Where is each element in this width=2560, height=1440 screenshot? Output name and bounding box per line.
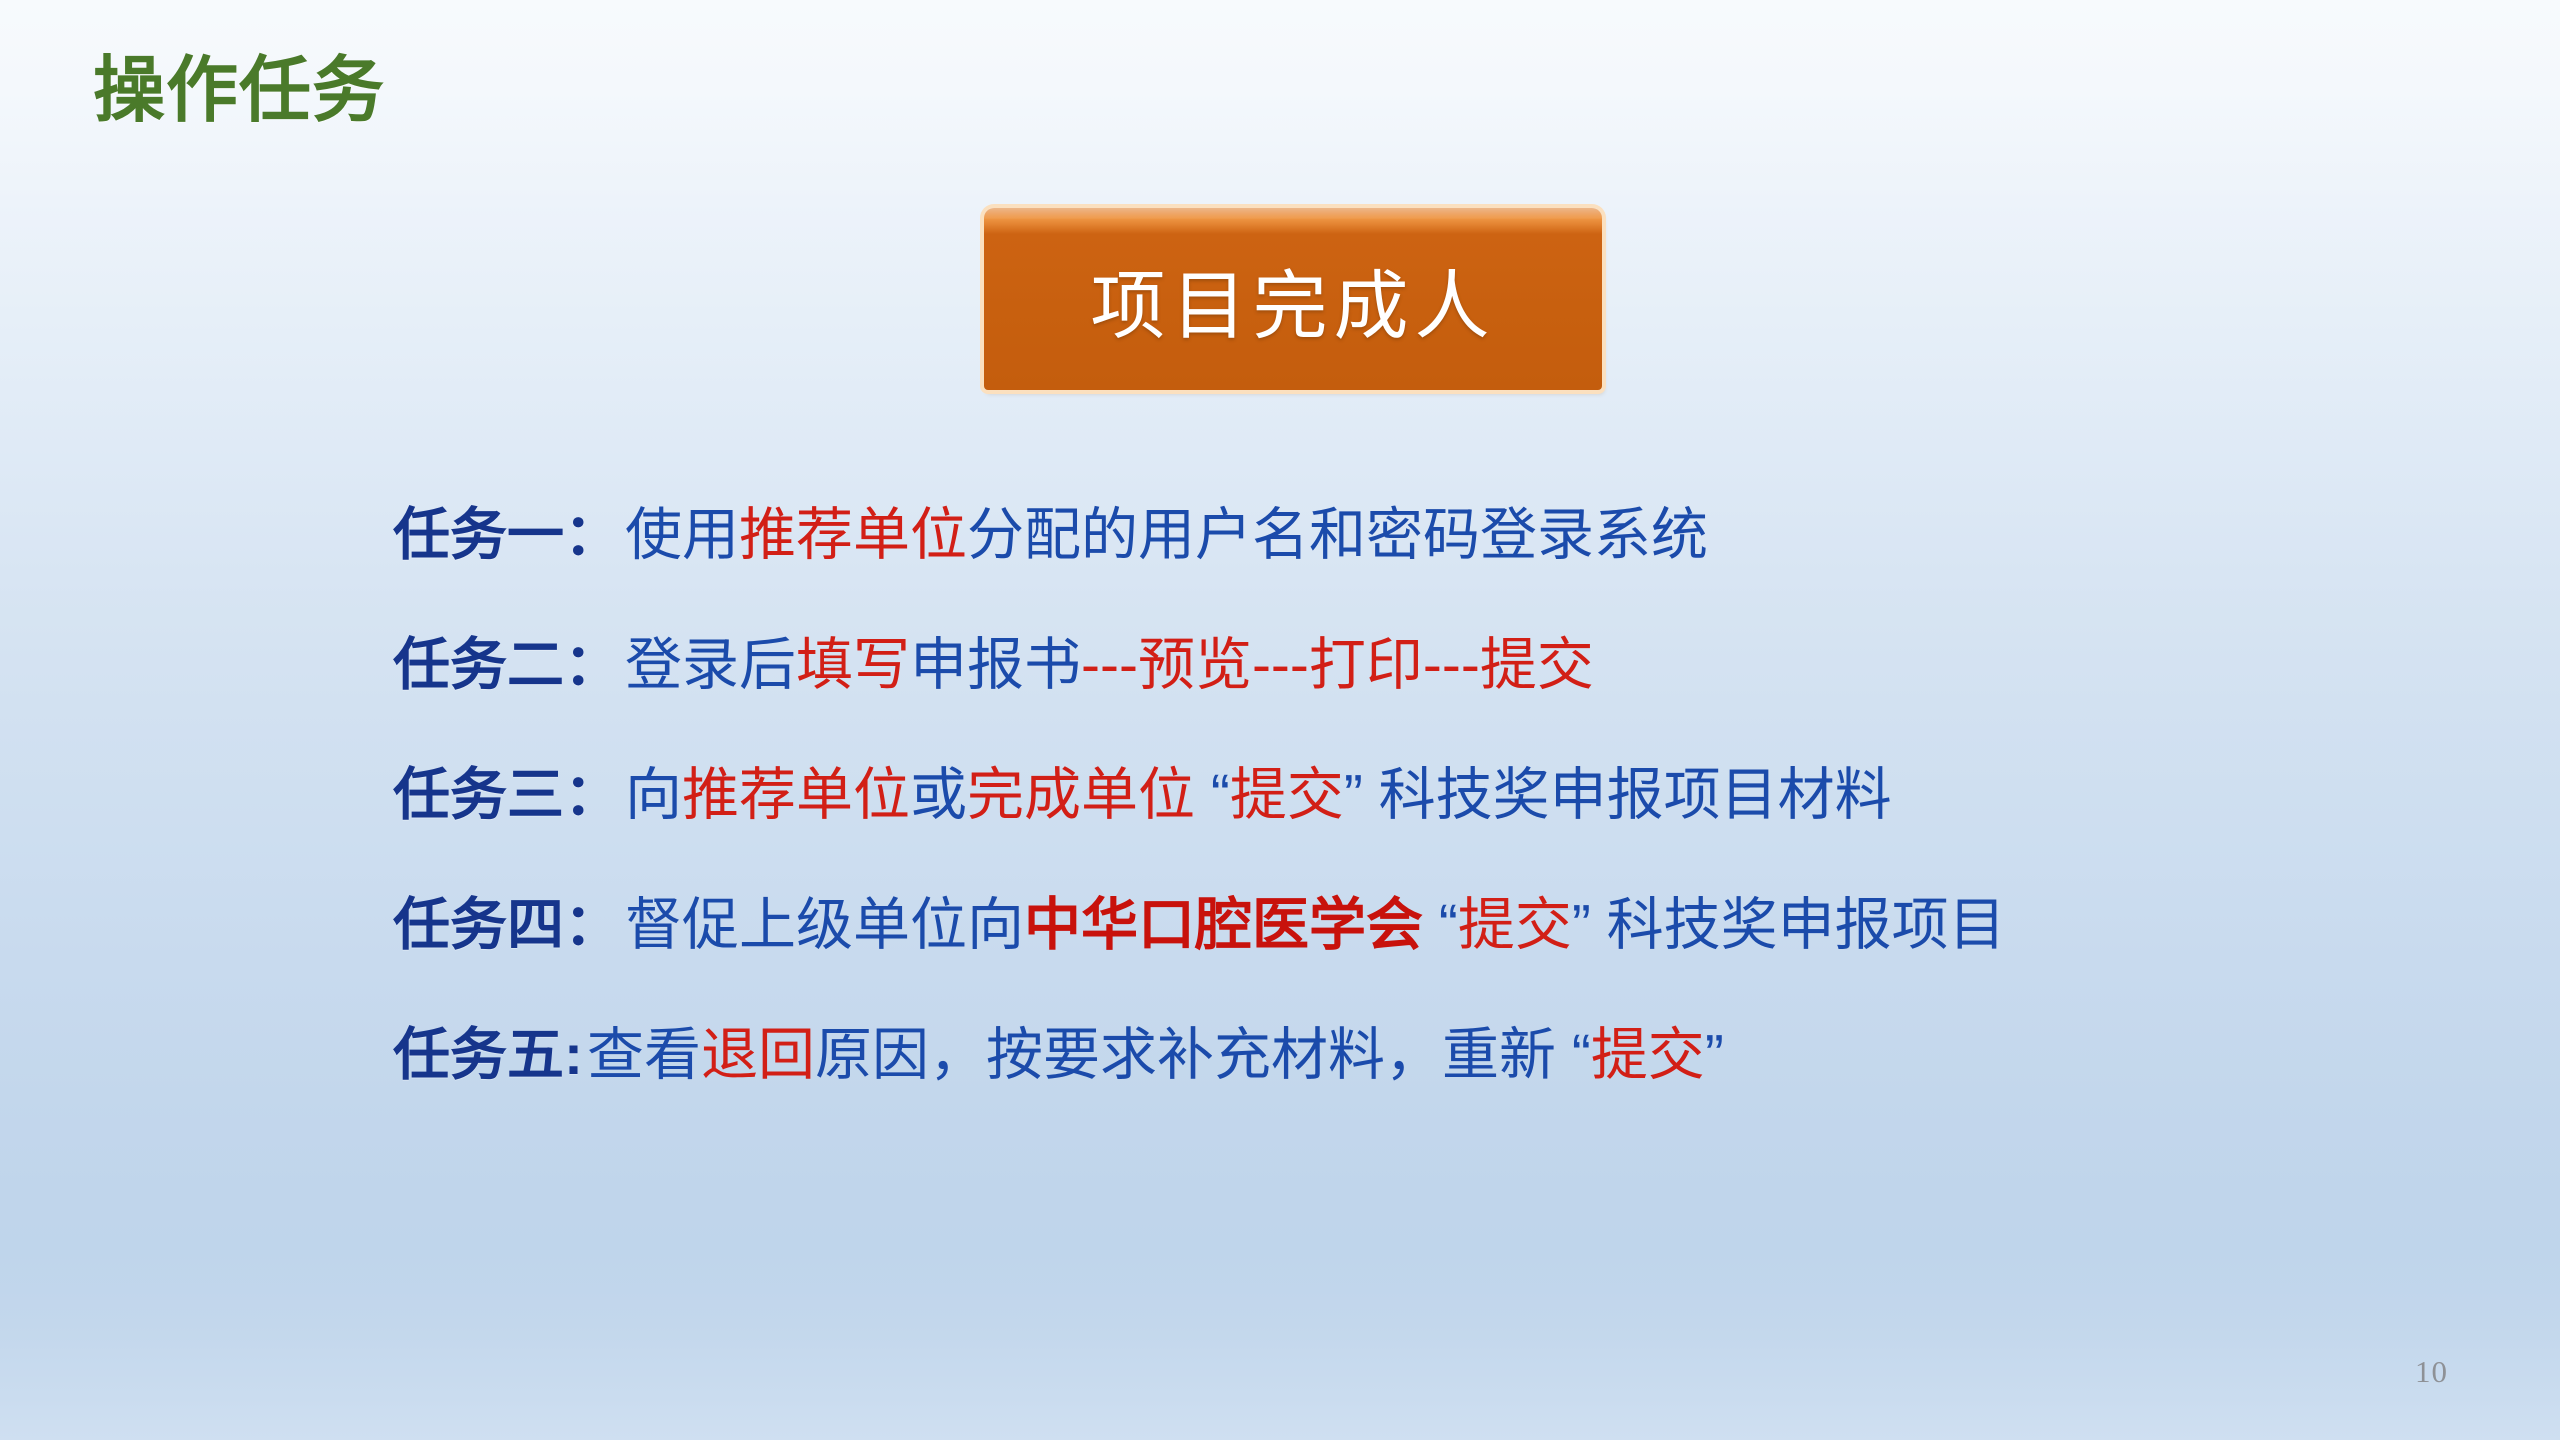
- task-text-segment: 原因，按要求补充材料，重新 “: [815, 1023, 1591, 1087]
- task-text-segment: ---预览---打印---提交: [1081, 633, 1594, 697]
- task-body-1: 使用推荐单位分配的用户名和密码登录系统: [625, 507, 1708, 564]
- task-item-5: 任务五: 查看退回原因，按要求补充材料，重新 “提交”: [393, 990, 2493, 1120]
- task-text-segment: 科技奖申报项目: [1607, 893, 2006, 957]
- task-text-segment: 完成单位: [967, 763, 1195, 827]
- task-text-segment: 提交: [1591, 1023, 1705, 1087]
- task-text-segment: 提交: [1230, 763, 1344, 827]
- page-title: 操作任务: [93, 50, 385, 133]
- task-text-segment: 退回: [701, 1023, 815, 1087]
- section-banner: 项目完成人: [984, 208, 1602, 390]
- task-text-segment: 或: [910, 763, 967, 827]
- task-text-segment: 中华口腔医学会: [1024, 893, 1423, 957]
- task-text-segment: ”: [1572, 893, 1607, 957]
- task-item-1: 任务一： 使用推荐单位分配的用户名和密码登录系统: [393, 470, 2493, 600]
- task-label-2: 任务二：: [393, 637, 625, 694]
- task-text-segment: 科技奖申报项目材料: [1379, 763, 1892, 827]
- task-text-segment: 填写: [796, 633, 910, 697]
- task-text-segment: ”: [1705, 1023, 1724, 1087]
- task-text-segment: ”: [1344, 763, 1379, 827]
- task-item-2: 任务二： 登录后填写申报书---预览---打印---提交: [393, 600, 2493, 730]
- task-body-3: 向推荐单位或完成单位 “提交” 科技奖申报项目材料: [625, 767, 1892, 824]
- task-text-segment: 督促上级单位向: [625, 893, 1024, 957]
- task-text-segment: 登录后: [625, 633, 796, 697]
- slide-canvas: 操作任务 项目完成人 任务一： 使用推荐单位分配的用户名和密码登录系统 任务二：…: [0, 0, 2560, 1440]
- task-text-segment: 推荐单位: [682, 763, 910, 827]
- task-text-segment: “: [1423, 893, 1458, 957]
- task-item-4: 任务四： 督促上级单位向中华口腔医学会 “提交” 科技奖申报项目: [393, 860, 2493, 990]
- task-body-5: 查看退回原因，按要求补充材料，重新 “提交”: [587, 1027, 1724, 1084]
- task-label-1: 任务一：: [393, 507, 625, 564]
- task-text-segment: 使用: [625, 503, 739, 567]
- task-label-4: 任务四：: [393, 897, 625, 954]
- task-text-segment: “: [1195, 763, 1230, 827]
- task-list: 任务一： 使用推荐单位分配的用户名和密码登录系统 任务二： 登录后填写申报书--…: [393, 470, 2493, 1120]
- task-text-segment: 查看: [587, 1023, 701, 1087]
- task-text-segment: 向: [625, 763, 682, 827]
- page-number: 10: [2415, 1354, 2448, 1390]
- task-text-segment: 分配的用户名和密码登录系统: [967, 503, 1708, 567]
- task-text-segment: 申报书: [910, 633, 1081, 697]
- task-item-3: 任务三： 向推荐单位或完成单位 “提交” 科技奖申报项目材料: [393, 730, 2493, 860]
- task-label-3: 任务三：: [393, 767, 625, 824]
- task-text-segment: 提交: [1458, 893, 1572, 957]
- task-body-2: 登录后填写申报书---预览---打印---提交: [625, 637, 1594, 694]
- task-body-4: 督促上级单位向中华口腔医学会 “提交” 科技奖申报项目: [625, 897, 2006, 954]
- banner-label: 项目完成人: [1090, 245, 1495, 354]
- task-label-5: 任务五:: [393, 1027, 587, 1084]
- task-text-segment: 推荐单位: [739, 503, 967, 567]
